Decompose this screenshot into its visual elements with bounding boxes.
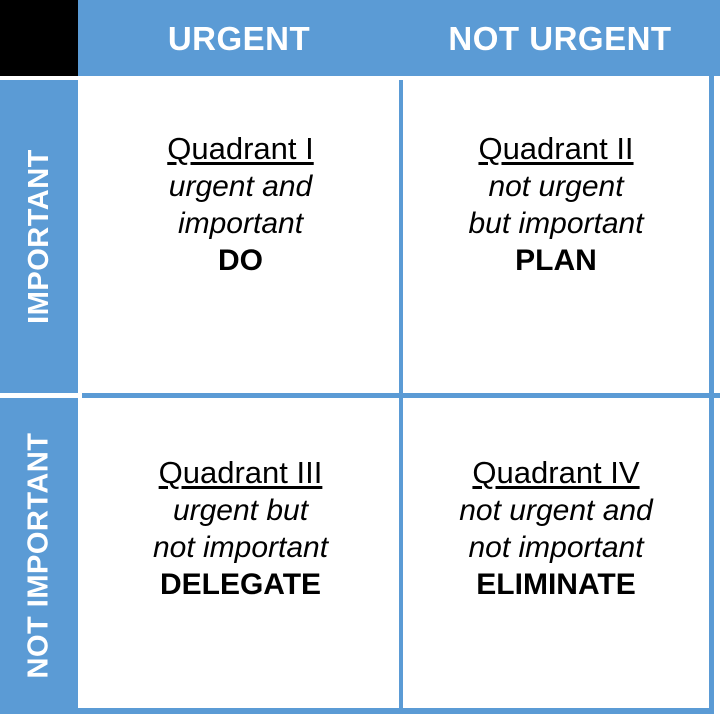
quadrant-4-action: ELIMINATE [403,566,709,603]
quadrant-1-title: Quadrant I [82,130,399,168]
bottom-border [0,708,714,714]
quadrant-1-desc-2: important [82,205,399,242]
quadrant-3-desc-2: not important [82,529,399,566]
eisenhower-matrix: URGENT NOT URGENT IMPORTANT NOT IMPORTAN… [0,0,720,725]
quadrant-1-action: DO [82,242,399,279]
quadrant-1-desc-1: urgent and [82,168,399,205]
row-header-important: IMPORTANT [0,80,78,393]
quadrant-3-desc-1: urgent but [82,492,399,529]
quadrant-3-title: Quadrant III [82,454,399,492]
quadrant-4-title: Quadrant IV [403,454,709,492]
quadrant-1-cell: Quadrant I urgent and important DO [82,80,399,393]
row-header-not-important-label: NOT IMPORTANT [25,432,54,678]
right-border [709,76,714,712]
row-header-important-label: IMPORTANT [25,149,54,324]
row-header-not-important: NOT IMPORTANT [0,398,78,712]
column-header-urgent: URGENT [78,0,400,76]
quadrant-3-cell: Quadrant III urgent but not important DE… [82,398,399,708]
column-header-row: URGENT NOT URGENT [78,0,720,76]
corner-block [0,0,78,76]
quadrant-4-desc-2: not important [403,529,709,566]
quadrant-4-cell: Quadrant IV not urgent and not important… [403,398,709,708]
quadrant-3-action: DELEGATE [82,566,399,603]
quadrant-2-cell: Quadrant II not urgent but important PLA… [403,80,709,393]
quadrant-2-desc-2: but important [403,205,709,242]
column-header-not-urgent: NOT URGENT [400,0,720,76]
quadrant-2-action: PLAN [403,242,709,279]
quadrant-2-title: Quadrant II [403,130,709,168]
horizontal-divider [82,393,720,398]
quadrant-4-desc-1: not urgent and [403,492,709,529]
quadrant-2-desc-1: not urgent [403,168,709,205]
